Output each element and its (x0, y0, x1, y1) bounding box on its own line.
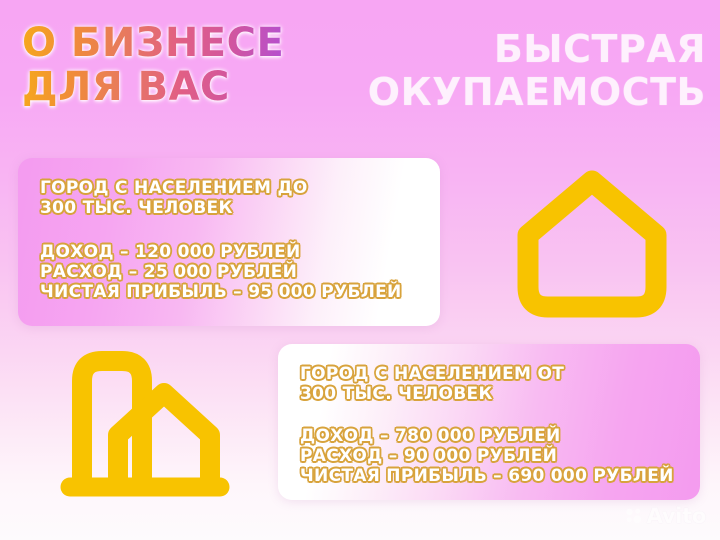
card-1-title-line-1: ГОРОД С НАСЕЛЕНИЕМ ДО (40, 178, 308, 198)
card-2-title-line-1: ГОРОД С НАСЕЛЕНИЕМ ОТ (300, 364, 564, 384)
info-card-large-city-content: ГОРОД С НАСЕЛЕНИЕМ ОТ 300 ТЫС. ЧЕЛОВЕК Д… (278, 344, 700, 500)
info-card-small-city-content: ГОРОД С НАСЕЛЕНИЕМ ДО 300 ТЫС. ЧЕЛОВЕК Д… (18, 158, 440, 320)
card-1-stat-income: ДОХОД – 120 000 РУБЛЕЙ (40, 242, 418, 262)
card-2-title-line-2: 300 ТЫС. ЧЕЛОВЕК (300, 384, 493, 404)
house-outline-icon (508, 165, 676, 325)
info-card-small-city: ГОРОД С НАСЕЛЕНИЕМ ДО 300 ТЫС. ЧЕЛОВЕК Д… (18, 158, 440, 326)
headline-right: БЫСТРАЯ ОКУПАЕМОСТЬ (368, 30, 706, 111)
card-1-stats: ДОХОД – 120 000 РУБЛЕЙ РАСХОД – 25 000 Р… (40, 242, 418, 302)
card-2-title: ГОРОД С НАСЕЛЕНИЕМ ОТ 300 ТЫС. ЧЕЛОВЕК (300, 364, 678, 404)
avito-logo-icon (625, 507, 643, 525)
headline-left: О БИЗНЕСЕ ДЛЯ ВАС (22, 24, 352, 106)
card-2-stats: ДОХОД – 780 000 РУБЛЕЙ РАСХОД – 90 000 Р… (300, 426, 678, 486)
card-1-title: ГОРОД С НАСЕЛЕНИЕМ ДО 300 ТЫС. ЧЕЛОВЕК (40, 178, 418, 218)
avito-watermark: Avito (625, 504, 706, 528)
card-2-stat-income: ДОХОД – 780 000 РУБЛЕЙ (300, 426, 678, 446)
headline-left-line-2: ДЛЯ ВАС (22, 68, 352, 106)
avito-wordmark: Avito (647, 504, 706, 528)
headline-right-line-1: БЫСТРАЯ (368, 30, 706, 68)
card-1-stat-expense: РАСХОД – 25 000 РУБЛЕЙ (40, 262, 418, 282)
poster-canvas: О БИЗНЕСЕ ДЛЯ ВАС БЫСТРАЯ ОКУПАЕМОСТЬ ГО… (0, 0, 720, 540)
card-1-title-line-2: 300 ТЫС. ЧЕЛОВЕК (40, 198, 233, 218)
headline-right-line-2: ОКУПАЕМОСТЬ (368, 73, 706, 111)
card-2-stat-profit: ЧИСТАЯ ПРИБЫЛЬ – 690 000 РУБЛЕЙ (300, 466, 678, 486)
card-2-stat-expense: РАСХОД – 90 000 РУБЛЕЙ (300, 446, 678, 466)
info-card-large-city: ГОРОД С НАСЕЛЕНИЕМ ОТ 300 ТЫС. ЧЕЛОВЕК Д… (278, 344, 700, 500)
two-buildings-outline-icon (60, 345, 242, 505)
headline-left-line-1: О БИЗНЕСЕ (22, 24, 352, 62)
card-1-stat-profit: ЧИСТАЯ ПРИБЫЛЬ – 95 000 РУБЛЕЙ (40, 282, 418, 302)
